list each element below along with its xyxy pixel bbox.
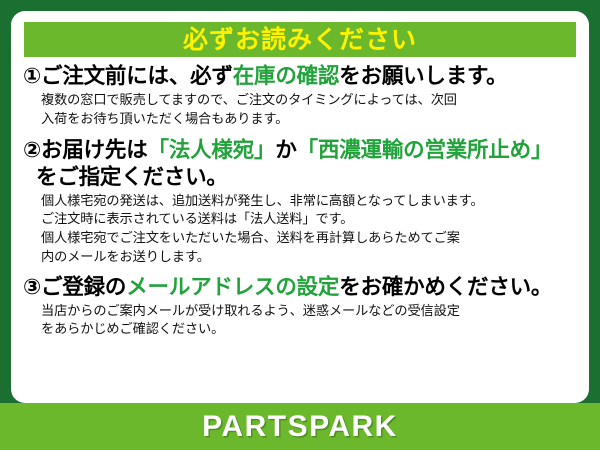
item-body-line: 複数の窓口で販売してますので、ご注文のタイミングによっては、次回 xyxy=(41,92,579,111)
item-body-line: 個人様宅宛でご注文をいただいた場合、送料を再計算しあらためてご案 xyxy=(41,230,579,249)
notice-panel: 必ずお読みください ①ご注文前には、必ず在庫の確認をお願いします。 複数の窓口で… xyxy=(11,11,589,403)
title-banner: 必ずお読みください xyxy=(24,22,576,57)
item-body-line: 入荷をお待ち頂いただく場合もあります。 xyxy=(41,111,579,130)
item-headline-line2: をご指定ください。 xyxy=(23,164,579,191)
item-headline-post: をお願いします。 xyxy=(339,64,507,89)
item-body-line: 内のメールをお送りします。 xyxy=(41,249,579,268)
notice-items-list: ①ご注文前には、必ず在庫の確認をお願いします。 複数の窓口で販売してますので、ご… xyxy=(11,63,589,340)
item-headline: ①ご注文前には、必ず在庫の確認をお願いします。 xyxy=(23,63,579,90)
footer-brand-band: PARTSPARK xyxy=(0,403,600,450)
item-number: ① xyxy=(23,64,41,89)
item-headline: ②お届け先は「法人様宛」か「西濃運輸の営業所止め」をご指定ください。 xyxy=(23,137,579,191)
item-headline-pre: お届け先は xyxy=(41,138,148,163)
item-body: 複数の窓口で販売してますので、ご注文のタイミングによっては、次回 入荷をお待ち頂… xyxy=(23,90,579,129)
brand-wordmark: PARTSPARK xyxy=(202,410,398,444)
item-body: 個人様宅宛の発送は、追加送料が発生し、非常に高額となってしまいます。 ご注文時に… xyxy=(23,191,579,268)
list-item: ③ご登録のメールアドレスの設定をお確かめください。 当店からのご案内メールが受け… xyxy=(23,274,579,341)
item-headline: ③ご登録のメールアドレスの設定をお確かめください。 xyxy=(23,274,579,301)
item-body-line: 個人様宅宛の発送は、追加送料が発生し、非常に高額となってしまいます。 xyxy=(41,193,579,212)
notice-card: 必ずお読みください ①ご注文前には、必ず在庫の確認をお願いします。 複数の窓口で… xyxy=(0,0,600,450)
item-headline-pre: ご注文前には、必ず xyxy=(41,64,233,89)
item-headline-mid: か xyxy=(275,138,296,163)
item-headline-highlight: 在庫の確認 xyxy=(233,64,340,89)
item-number: ② xyxy=(23,138,41,163)
item-headline-post: をお確かめください。 xyxy=(339,275,552,300)
item-body-line: ご注文時に表示されている送料は「法人送料」です。 xyxy=(41,211,579,230)
list-item: ②お届け先は「法人様宛」か「西濃運輸の営業所止め」をご指定ください。 個人様宅宛… xyxy=(23,137,579,268)
list-item: ①ご注文前には、必ず在庫の確認をお願いします。 複数の窓口で販売してますので、ご… xyxy=(23,63,579,130)
item-headline-pre: ご登録の xyxy=(41,275,126,300)
item-body-line: 当店からのご案内メールが受け取れるよう、迷惑メールなどの受信設定 xyxy=(41,303,579,322)
item-headline-highlight-2: 「西濃運輸の営業所止め」 xyxy=(297,138,553,163)
item-body-line: をあらかじめご確認ください。 xyxy=(41,321,579,340)
item-headline-highlight: メールアドレスの設定 xyxy=(126,275,339,300)
item-number: ③ xyxy=(23,275,41,300)
item-body: 当店からのご案内メールが受け取れるよう、迷惑メールなどの受信設定 をあらかじめご… xyxy=(23,301,579,340)
page-title: 必ずお読みください xyxy=(183,27,417,52)
item-headline-highlight: 「法人様宛」 xyxy=(148,138,276,163)
